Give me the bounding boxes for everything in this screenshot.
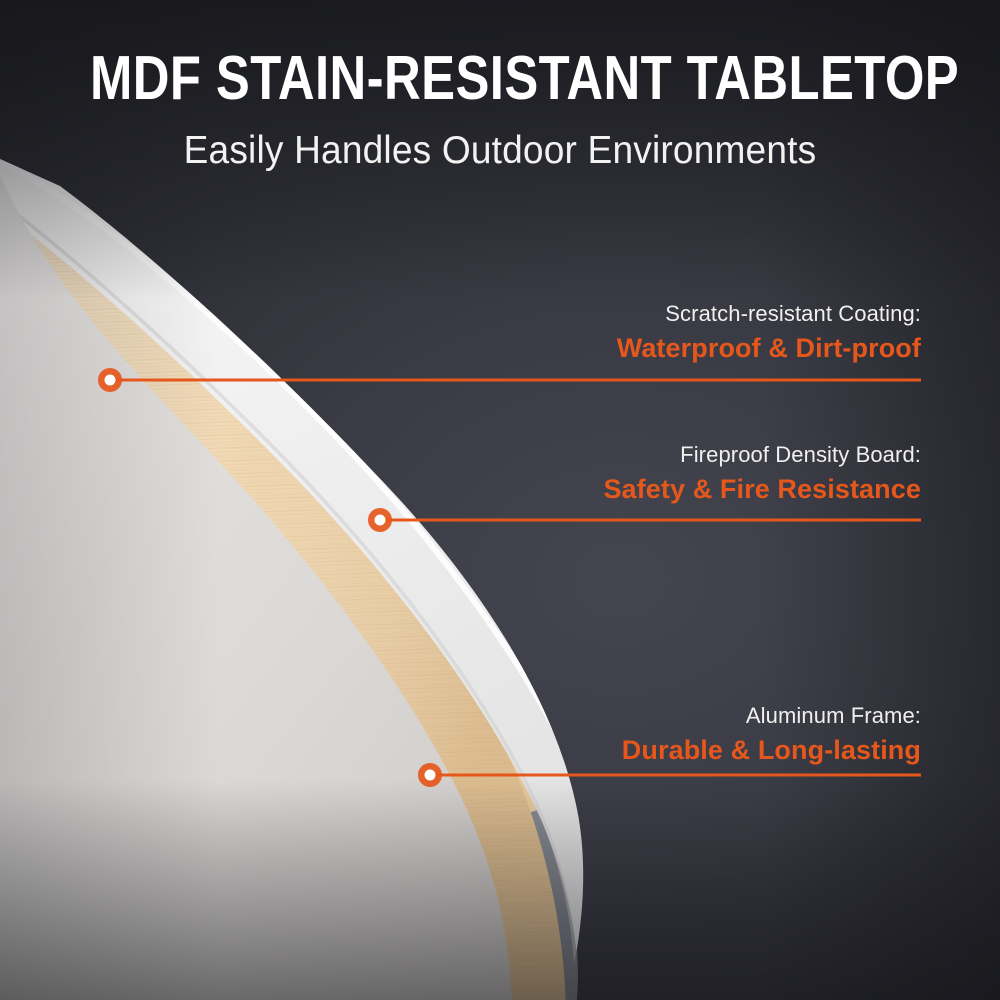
callout-fireproof-density-board: Fireproof Density Board: Safety & Fire R… [603, 441, 921, 507]
callout-label: Scratch-resistant Coating: [617, 300, 921, 328]
page-title: MDF STAIN-RESISTANT TABLETOP [90, 48, 910, 110]
product-feature-image: MDF STAIN-RESISTANT TABLETOP Easily Hand… [0, 0, 1000, 1000]
callout-value: Durable & Long-lasting [622, 733, 921, 768]
callout-scratch-resistant-coating: Scratch-resistant Coating: Waterproof & … [617, 300, 921, 366]
callout-label: Aluminum Frame: [622, 702, 921, 730]
callout-value: Waterproof & Dirt-proof [617, 331, 921, 366]
callout-aluminum-frame: Aluminum Frame: Durable & Long-lasting [622, 702, 921, 768]
callout-value: Safety & Fire Resistance [603, 472, 921, 507]
page-subtitle: Easily Handles Outdoor Environments [25, 130, 975, 173]
callout-label: Fireproof Density Board: [603, 441, 921, 469]
